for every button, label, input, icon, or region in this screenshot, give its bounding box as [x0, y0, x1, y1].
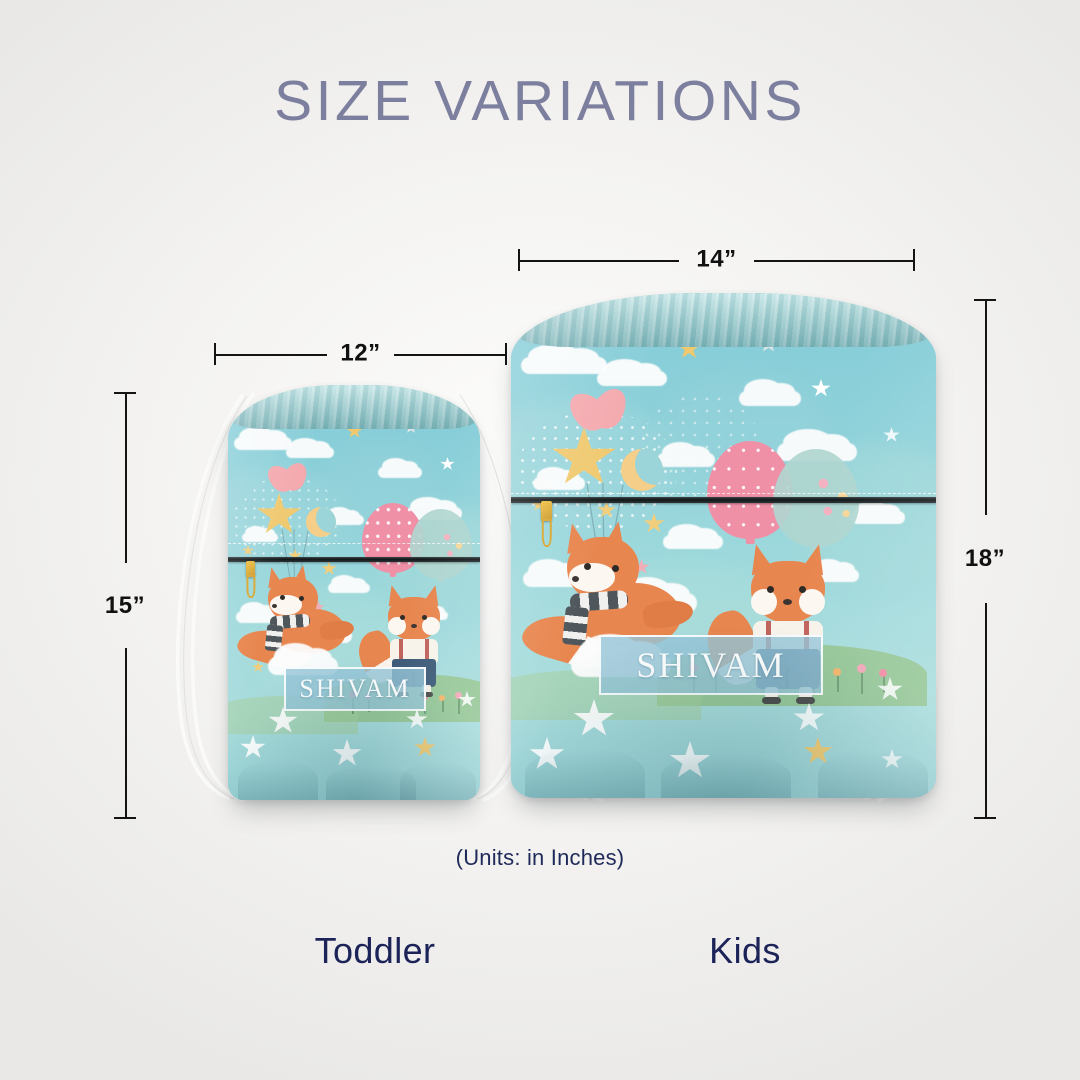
- crescent-moon-icon: [306, 507, 336, 537]
- dimension-toddler-width: 12”: [214, 340, 507, 368]
- mint-balloon-icon: [410, 509, 472, 579]
- kids-bag-body: SHIVAM: [511, 293, 936, 798]
- dimension-toddler-height-label: 15”: [105, 585, 145, 627]
- product-label-toddler: Toddler: [255, 930, 495, 972]
- product-size-chart: SIZE VARIATIONS 14” 12” 18” 15”: [0, 0, 1080, 1080]
- toddler-bag-artwork: [228, 415, 480, 800]
- zipper-pull-toddler[interactable]: [246, 561, 255, 577]
- dimension-kids-height: 18”: [971, 299, 999, 819]
- nameplate-toddler: SHIVAM: [284, 667, 426, 711]
- heart-balloon-icon: [570, 386, 628, 439]
- product-toddler-bag[interactable]: SHIVAM: [152, 380, 554, 805]
- heart-balloon-icon: [268, 461, 308, 498]
- toddler-bag-body: SHIVAM: [228, 385, 480, 800]
- dimension-kids-width-label: 14”: [687, 245, 745, 273]
- personalized-name-kids: SHIVAM: [636, 644, 785, 686]
- dimension-toddler-height: 15”: [111, 392, 139, 819]
- nameplate-kids: SHIVAM: [599, 635, 823, 695]
- product-kids-bag[interactable]: SHIVAM: [495, 288, 965, 806]
- units-note: (Units: in Inches): [0, 845, 1080, 871]
- dimension-toddler-width-label: 12”: [331, 339, 389, 367]
- page-title: SIZE VARIATIONS: [0, 68, 1080, 134]
- zipper-pull-kids[interactable]: [541, 501, 552, 521]
- personalized-name-toddler: SHIVAM: [299, 674, 410, 704]
- zipper-toddler[interactable]: [228, 557, 480, 562]
- drawstring-collar-kids: [511, 293, 936, 347]
- dimension-kids-height-label: 18”: [965, 538, 1005, 580]
- drawstring-collar-toddler: [228, 385, 480, 429]
- crescent-moon-icon: [621, 449, 663, 491]
- dimension-kids-width: 14”: [518, 246, 915, 274]
- kids-bag-artwork: [511, 331, 936, 798]
- product-label-kids: Kids: [625, 930, 865, 972]
- zipper-kids[interactable]: [511, 497, 936, 503]
